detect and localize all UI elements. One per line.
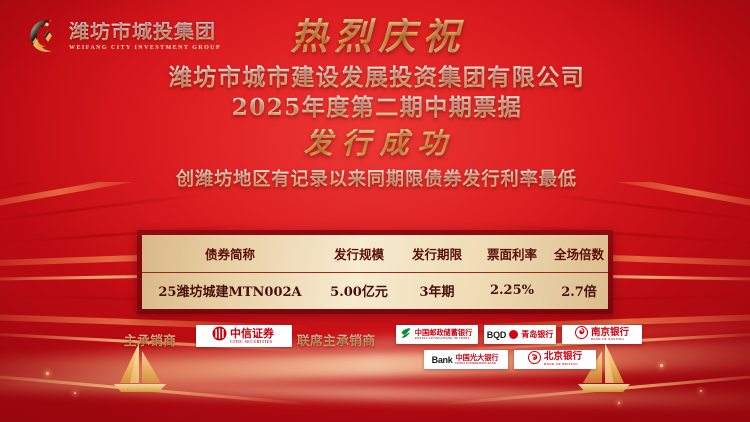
table-cell-issue-term: 3年期 bbox=[400, 281, 474, 300]
citic-name-en: CITIC SECURITIES bbox=[230, 340, 272, 344]
underwriter-logo-nanjing: 南京银行 BANK OF NANJING bbox=[562, 325, 642, 344]
citic-logo-icon bbox=[212, 326, 227, 346]
underwriter-logo-bqd: BQD 青岛银行 bbox=[484, 325, 556, 344]
psbc-name-en: POSTAL SAVINGS BANK OF CHINA bbox=[415, 337, 470, 340]
beijing-name-en: BANK OF BEIJING bbox=[544, 363, 579, 366]
beijing-logo-icon bbox=[528, 351, 541, 369]
underwriter-logo-psbc: 中国邮政储蓄银行 POSTAL SAVINGS BANK OF CHINA bbox=[396, 325, 478, 344]
table-header-cell: 发行规模 bbox=[318, 244, 400, 263]
table-header-cell: 债券简称 bbox=[142, 244, 318, 263]
company-name: 潍坊市城市建设发展投资集团有限公司 bbox=[0, 64, 750, 91]
bqd-name-cn: 青岛银行 bbox=[521, 331, 553, 339]
underwriter-logo-citic: 中信证券 CITIC SECURITIES bbox=[196, 325, 292, 347]
table-header-cell: 票面利率 bbox=[474, 244, 550, 263]
gold-ribbon-low bbox=[0, 378, 750, 409]
headline-block: 热烈庆祝 潍坊市城市建设发展投资集团有限公司 2025年度第二期中期票据 发行成… bbox=[0, 18, 750, 191]
record-subtitle: 创潍坊地区有记录以来同期限债券发行利率最低 bbox=[0, 169, 750, 191]
banner-canvas: 潍坊市城投集团 WEIFANG CITY INVESTMENT GROUP 热烈… bbox=[0, 0, 750, 422]
nanjing-logo-icon bbox=[575, 326, 588, 344]
citic-name-cn: 中信证券 bbox=[230, 328, 276, 339]
table-cell-coupon-rate: 2.25% bbox=[474, 283, 550, 298]
everbright-mark-text: Bank bbox=[432, 355, 453, 365]
table-cell-bond-name: 25潍坊城建MTN002A bbox=[142, 281, 318, 300]
table-header-cell: 发行期限 bbox=[400, 244, 474, 263]
nanjing-name-en: BANK OF NANJING bbox=[591, 338, 626, 341]
everbright-name-en: CHINA EVERBRIGHT BANK bbox=[455, 362, 496, 365]
underwriter-logo-everbright: Bank 中国光大银行 CHINA EVERBRIGHT BANK bbox=[424, 350, 508, 369]
table-header-cell: 全场倍数 bbox=[550, 244, 608, 263]
issue-name: 2025年度第二期中期票据 bbox=[0, 94, 750, 121]
everbright-name-cn: 中国光大银行 bbox=[455, 354, 500, 361]
bond-table: 债券简称 发行规模 发行期限 票面利率 全场倍数 25潍坊城建MTN002A 5… bbox=[137, 230, 613, 314]
table-header-row: 债券简称 发行规模 发行期限 票面利率 全场倍数 bbox=[142, 235, 608, 273]
table-cell-issue-size: 5.00亿元 bbox=[318, 281, 400, 300]
beijing-name-cn: 北京银行 bbox=[544, 352, 582, 362]
table-cell-subscription-multiple: 2.7倍 bbox=[550, 281, 608, 300]
underwriter-section: 主承销商 联席主承销商 中信证券 CITIC SECURITIES bbox=[0, 325, 750, 377]
nanjing-name-cn: 南京银行 bbox=[591, 328, 629, 338]
bqd-logo-icon bbox=[509, 330, 518, 339]
lead-underwriter-label: 主承销商 bbox=[124, 330, 176, 349]
underwriter-logo-beijing: 北京银行 BANK OF BEIJING bbox=[514, 350, 596, 369]
celebrate-title: 热烈庆祝 bbox=[0, 18, 750, 55]
table-row: 25潍坊城建MTN002A 5.00亿元 3年期 2.25% 2.7倍 bbox=[142, 273, 608, 310]
bqd-mark-text: BQD bbox=[487, 330, 506, 340]
joint-underwriter-label: 联席主承销商 bbox=[297, 330, 376, 349]
psbc-logo-icon bbox=[400, 326, 412, 344]
success-title: 发行成功 bbox=[0, 129, 750, 158]
psbc-name-cn: 中国邮政储蓄银行 bbox=[415, 329, 474, 336]
